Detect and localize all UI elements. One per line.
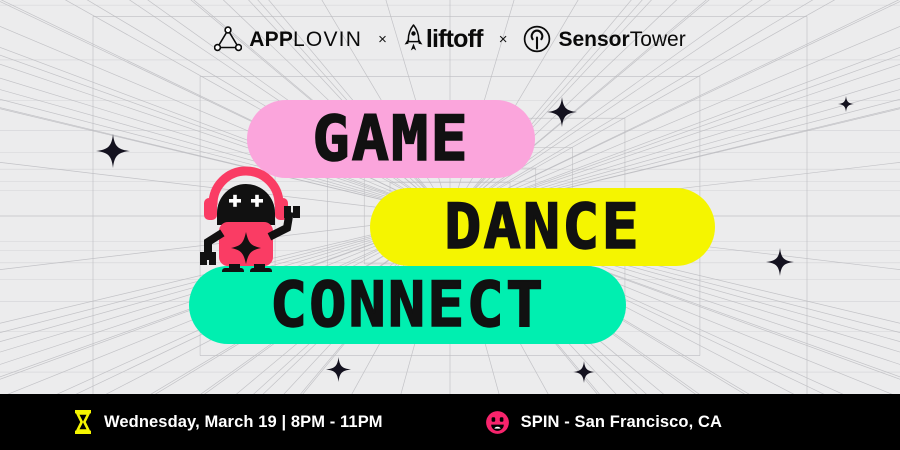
sponsor-applovin-light: LOVIN <box>293 28 362 51</box>
triangle-nodes-icon <box>214 26 242 52</box>
footer-date-label: Wednesday, March 19 | 8PM - 11PM <box>104 414 383 431</box>
sponsor-liftoff-word: liftoff <box>426 27 483 52</box>
sparkle-star <box>838 96 854 112</box>
dj-robot-mascot <box>196 156 308 272</box>
footer-info-bar: Wednesday, March 19 | 8PM - 11PM SPIN - … <box>0 394 900 450</box>
separator-x: × <box>497 31 510 48</box>
sponsor-sensortower-light: Tower <box>630 28 686 51</box>
sparkle-star <box>326 357 351 382</box>
separator-x: × <box>376 31 389 48</box>
headline-pill-connect: CONNECT <box>189 266 626 344</box>
headline-text-game: GAME <box>312 108 469 170</box>
footer-date-item: Wednesday, March 19 | 8PM - 11PM <box>73 409 383 435</box>
footer-venue-label: SPIN - San Francisco, CA <box>521 414 722 431</box>
sponsor-applovin-bold: APP <box>249 28 293 51</box>
sponsor-applovin: APPLOVIN <box>214 26 362 52</box>
sparkle-star <box>96 134 130 168</box>
sponsor-sensor-tower: SensorTower <box>523 25 685 53</box>
circle-antenna-icon <box>523 25 551 53</box>
rocket-icon <box>403 24 424 54</box>
headline-text-connect: CONNECT <box>270 274 545 336</box>
headline-text-dance: DANCE <box>444 196 641 258</box>
sponsor-logo-bar: APPLOVIN × liftoff × <box>0 24 900 54</box>
headline-pill-dance: DANCE <box>370 188 715 266</box>
event-poster: APPLOVIN × liftoff × <box>0 0 900 450</box>
sparkle-star <box>766 248 794 276</box>
footer-venue-item: SPIN - San Francisco, CA <box>485 410 722 435</box>
sponsor-sensortower-bold: Sensor <box>558 28 629 51</box>
hourglass-icon <box>73 409 93 435</box>
smiley-face-icon <box>485 410 510 435</box>
sparkle-star <box>547 97 577 127</box>
sponsor-liftoff: liftoff <box>403 24 483 54</box>
sparkle-star <box>573 361 595 383</box>
